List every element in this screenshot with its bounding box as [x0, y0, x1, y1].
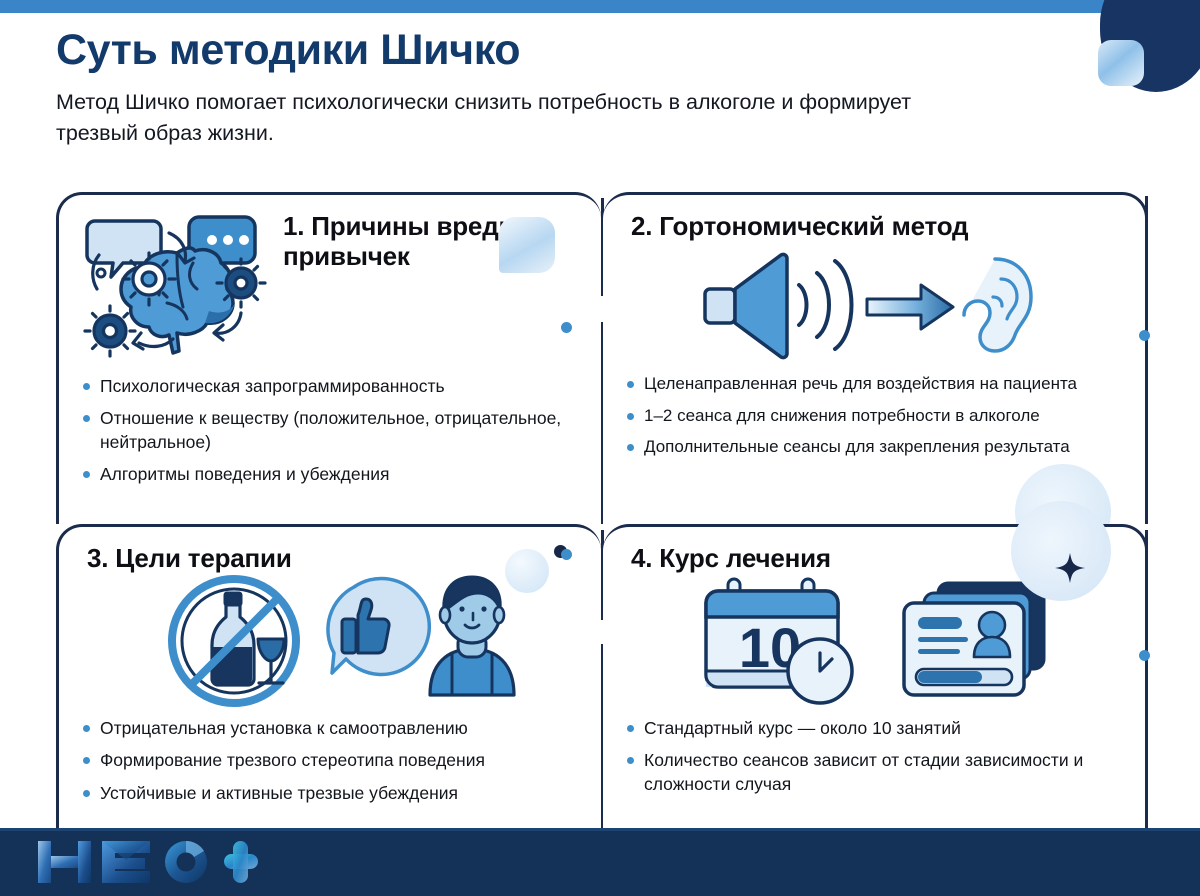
- card-therapy-goals: 3. Цели терапии: [56, 524, 601, 832]
- card-title: 1. Причины вредных привычек: [283, 211, 581, 271]
- card-title: 2. Гортономический метод: [631, 211, 1125, 241]
- list-item: Количество сеансов зависит от стадии зав…: [625, 749, 1125, 796]
- page-subtitle: Метод Шичко помогает психологически сниз…: [56, 87, 956, 148]
- card-title: 4. Курс лечения: [631, 543, 1125, 573]
- list-item: Устойчивые и активные трезвые убеждения: [81, 782, 581, 805]
- brain-gears-speech-bubbles-icon: [81, 211, 269, 361]
- list-item: Алгоритмы поведения и убеждения: [81, 463, 581, 486]
- list-item: 1–2 сеанса для снижения потребности в ал…: [625, 405, 1125, 428]
- card-title: 3. Цели терапии: [87, 543, 581, 573]
- card-bullet-list: Целенаправленная речь для воздействия на…: [625, 373, 1125, 459]
- card-divider-dot: [561, 549, 572, 560]
- list-item: Психологическая запрограммированность: [81, 375, 581, 398]
- page-header: Суть методики Шичко Метод Шичко помогает…: [56, 28, 1066, 148]
- card-gortonomic-method: 2. Гортономический метод: [603, 192, 1148, 524]
- card-divider-gap: [597, 296, 606, 322]
- footer-bar: НЕО+: [0, 828, 1200, 896]
- edge-accent-line: [1145, 530, 1148, 650]
- card-divider-dot: [561, 322, 572, 333]
- top-accent-bar: [0, 0, 1200, 13]
- list-item: Дополнительные сеансы для закрепления ре…: [625, 436, 1125, 459]
- list-item: Целенаправленная речь для воздействия на…: [625, 373, 1125, 396]
- list-item: Стандартный курс — около 10 занятий: [625, 717, 1125, 740]
- card-divider-gap: [597, 620, 606, 644]
- edge-accent-line: [1145, 196, 1148, 336]
- decorative-light-square: [1098, 40, 1144, 86]
- card-bullet-list: Психологическая запрограммированность От…: [81, 375, 581, 486]
- no-alcohol-thumbs-up-person-icon: [81, 575, 581, 711]
- list-item: Отношение к веществу (положительное, отр…: [81, 407, 581, 454]
- calendar-clock-cards-icon: 10: [625, 575, 1125, 707]
- card-causes-of-bad-habits: 1. Причины вредных привычек Психологичес…: [56, 192, 601, 524]
- card-header: 1. Причины вредных привычек: [81, 211, 581, 361]
- page-title: Суть методики Шичко: [56, 28, 1066, 73]
- cards-grid: 1. Причины вредных привычек Психологичес…: [56, 192, 1148, 832]
- edge-accent-dot: [1139, 650, 1150, 661]
- list-item: Формирование трезвого стереотипа поведен…: [81, 749, 581, 772]
- card-bullet-list: Стандартный курс — около 10 занятий Коли…: [625, 717, 1125, 796]
- list-item: Отрицательная установка к самоотравлению: [81, 717, 581, 740]
- speaker-arrow-ear-icon: [625, 245, 1125, 365]
- card-treatment-course: 4. Курс лечения 10: [603, 524, 1148, 832]
- edge-accent-dot: [1139, 330, 1150, 341]
- card-bullet-list: Отрицательная установка к самоотравлению…: [81, 717, 581, 805]
